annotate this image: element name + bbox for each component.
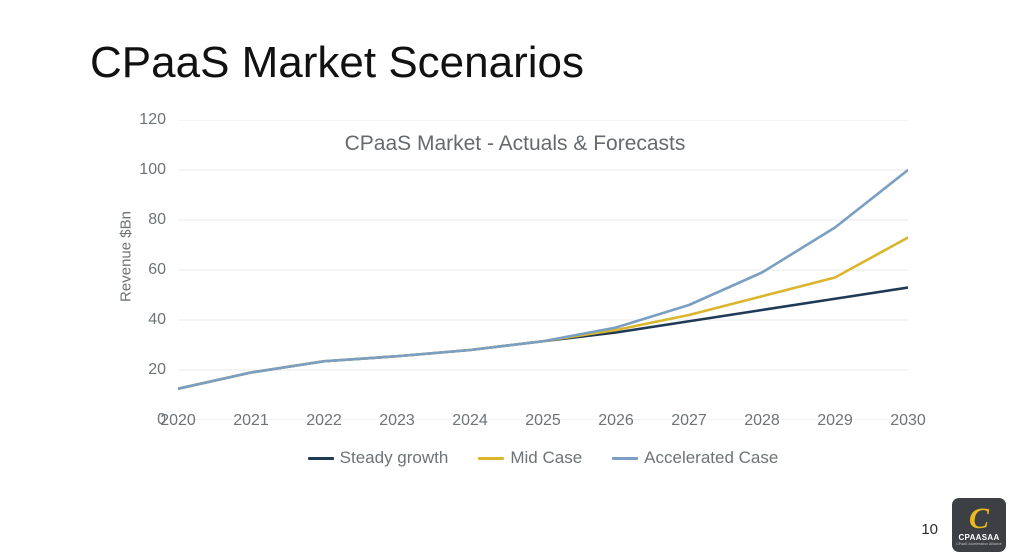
legend-item-2[interactable]: Accelerated Case xyxy=(612,448,778,468)
chart-legend: Steady growthMid CaseAccelerated Case xyxy=(178,448,908,468)
y-tick-label: 100 xyxy=(106,161,166,179)
y-tick-label: 120 xyxy=(106,111,166,129)
x-tick-label: 2020 xyxy=(143,412,213,430)
page-title: CPaaS Market Scenarios xyxy=(90,38,584,88)
slide: CPaaS Market Scenarios CPaaS Market - Ac… xyxy=(0,0,1024,560)
x-tick-label: 2024 xyxy=(435,412,505,430)
logo-c-mark: C xyxy=(969,505,989,533)
plot-area xyxy=(178,120,908,420)
chart-container: CPaaS Market - Actuals & Forecasts Reven… xyxy=(90,120,940,485)
y-tick-label: 80 xyxy=(106,211,166,229)
series-line-0 xyxy=(178,288,908,389)
legend-label: Mid Case xyxy=(510,448,582,468)
y-axis-ticks: 020406080100120 xyxy=(90,120,166,485)
page-number: 10 xyxy=(921,521,938,538)
legend-swatch-icon xyxy=(308,457,334,460)
series-lines xyxy=(178,170,908,389)
y-tick-label: 40 xyxy=(106,311,166,329)
x-tick-label: 2021 xyxy=(216,412,286,430)
x-axis-ticks: 2020202120222023202420252026202720282029… xyxy=(178,412,908,442)
cpaasaa-logo: C CPAASAA CPaaS Acceleration Alliance xyxy=(952,498,1006,552)
legend-item-1[interactable]: Mid Case xyxy=(478,448,582,468)
x-tick-label: 2030 xyxy=(873,412,943,430)
x-tick-label: 2023 xyxy=(362,412,432,430)
legend-item-0[interactable]: Steady growth xyxy=(308,448,449,468)
legend-swatch-icon xyxy=(612,457,638,460)
x-tick-label: 2025 xyxy=(508,412,578,430)
line-chart-svg xyxy=(178,120,908,420)
logo-wordmark: CPAASAA xyxy=(958,533,999,542)
series-line-2 xyxy=(178,170,908,389)
y-tick-label: 20 xyxy=(106,361,166,379)
x-tick-label: 2026 xyxy=(581,412,651,430)
x-tick-label: 2022 xyxy=(289,412,359,430)
x-tick-label: 2027 xyxy=(654,412,724,430)
x-tick-label: 2028 xyxy=(727,412,797,430)
x-tick-label: 2029 xyxy=(800,412,870,430)
logo-tagline: CPaaS Acceleration Alliance xyxy=(956,542,1001,547)
legend-label: Accelerated Case xyxy=(644,448,778,468)
y-tick-label: 60 xyxy=(106,261,166,279)
gridlines xyxy=(178,120,908,420)
legend-label: Steady growth xyxy=(340,448,449,468)
legend-swatch-icon xyxy=(478,457,504,460)
